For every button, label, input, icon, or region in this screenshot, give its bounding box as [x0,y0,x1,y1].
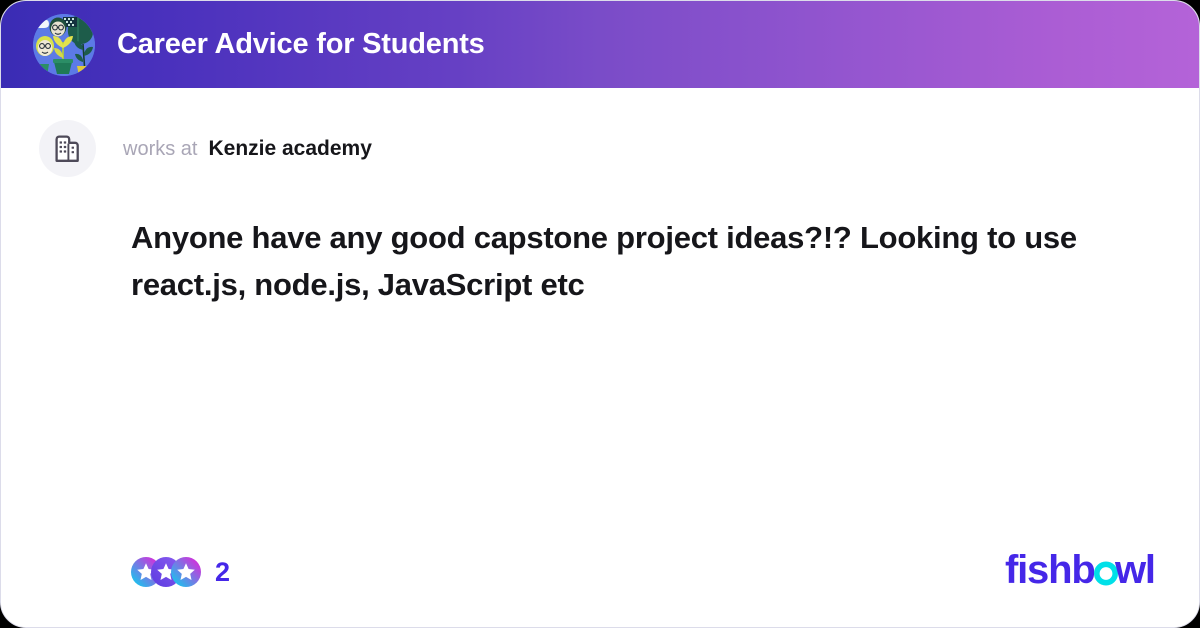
works-at-label: works at [123,138,197,161]
svg-text:wl: wl [1114,549,1155,592]
card-header: Career Advice for Students [1,1,1199,88]
author-meta-row: works at Kenzie academy [1,88,1199,177]
card-footer: 2 fishb wl [1,517,1199,627]
star-reaction-icon[interactable] [171,557,201,587]
building-icon [39,120,96,177]
post-card: Career Advice for Students [0,0,1200,628]
reaction-count: 2 [215,557,230,588]
fishbowl-logo: fishb wl [1005,549,1155,595]
reactions-group[interactable]: 2 [131,557,230,588]
reaction-badges[interactable] [131,557,201,587]
group-title: Career Advice for Students [117,28,485,61]
author-meta-text: works at Kenzie academy [123,137,372,161]
company-name: Kenzie academy [208,137,371,161]
group-illustration-avatar [33,14,95,76]
svg-text:fishb: fishb [1005,549,1095,592]
post-body-text: Anyone have any good capstone project id… [131,214,1141,308]
card-body: works at Kenzie academy Anyone have any … [1,88,1199,627]
